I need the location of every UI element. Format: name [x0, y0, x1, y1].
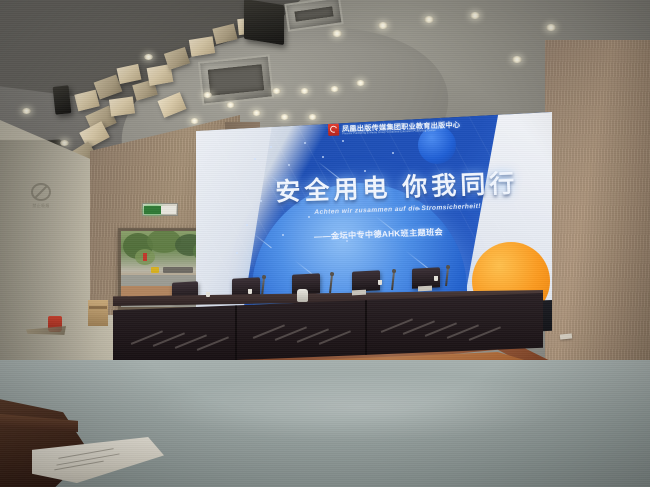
desk-inlay-stripe: [469, 326, 501, 340]
name-card: [352, 290, 366, 296]
star-dot: [236, 252, 238, 254]
desk-inlay-stripe: [319, 330, 351, 344]
wall-speaker: [244, 0, 284, 45]
star-dot: [282, 234, 284, 236]
downlight: [203, 92, 212, 98]
phoenix-publishing-logo: [328, 123, 339, 135]
downlight: [144, 54, 153, 60]
presentation-title-block: 安全用电 你我同行 Achten wir zusammen auf die St…: [271, 163, 522, 217]
downlight: [308, 114, 317, 120]
star-dot: [304, 142, 306, 144]
conference-hall-photo: 禁止吸烟: [0, 0, 650, 487]
star-dot: [270, 146, 272, 148]
desk-inlay-stripe: [197, 336, 229, 350]
wooden-stool: [88, 300, 108, 326]
star-dot: [392, 152, 394, 154]
downlight: [356, 80, 365, 86]
downlight: [330, 86, 339, 92]
downlight: [378, 22, 388, 29]
downlight: [190, 118, 199, 124]
paper-text-line: [54, 461, 103, 471]
panel-chair[interactable]: [352, 270, 380, 291]
downlight: [512, 56, 522, 63]
acoustic-panel: [109, 96, 135, 116]
water-cup: [378, 280, 382, 285]
star-dot: [288, 164, 290, 166]
downlight: [300, 88, 309, 94]
downlight: [22, 108, 31, 114]
downlight: [470, 12, 480, 19]
downlight: [272, 88, 281, 94]
star-dot: [260, 200, 262, 202]
star-dot: [322, 156, 324, 158]
downlight: [226, 102, 235, 108]
desk-seam: [365, 293, 367, 365]
floor-reflection: [150, 372, 570, 442]
downlight: [424, 16, 434, 23]
star-dot: [246, 224, 248, 226]
no-smoking-label: 禁止吸烟: [32, 203, 49, 209]
star-dot: [342, 140, 344, 142]
downlight: [332, 30, 342, 37]
water-cup: [206, 292, 210, 297]
water-cup: [434, 276, 438, 281]
ac-cassette-vent: [198, 54, 274, 105]
no-smoking-icon: 禁止吸烟: [30, 183, 52, 209]
paper-text-line: [58, 448, 113, 459]
water-cup: [248, 289, 252, 294]
star-dot: [254, 158, 256, 160]
exit-sign: [142, 203, 178, 216]
name-card: [418, 286, 432, 292]
star-dot: [308, 216, 310, 218]
downlight: [280, 114, 289, 120]
downlight: [546, 24, 556, 31]
ceiling-speaker: [53, 85, 72, 115]
right-wood-panel-wall: [545, 40, 650, 410]
downlight: [252, 110, 261, 116]
electric-kettle: [297, 289, 308, 302]
